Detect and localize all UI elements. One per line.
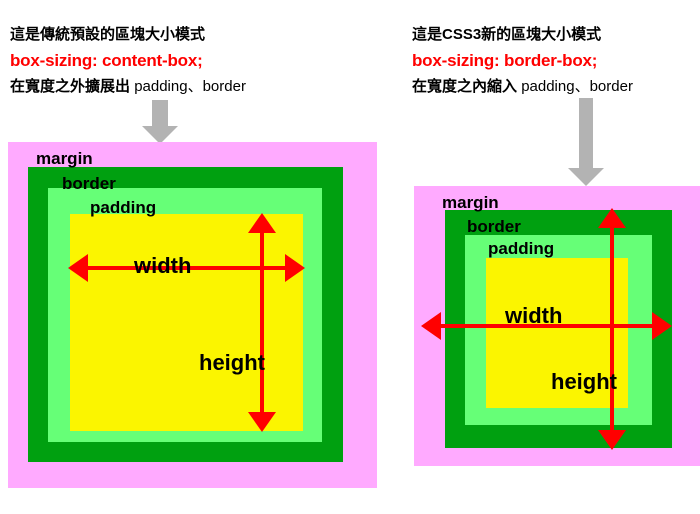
arrow-down-head xyxy=(568,168,604,186)
caption-left-line3-prefix: 在寬度之外擴展出 xyxy=(10,78,130,95)
label-margin: margin xyxy=(442,194,499,211)
label-margin: margin xyxy=(36,150,93,167)
caption-right-line1: 這是CSS3新的區塊大小模式 xyxy=(412,22,633,48)
arrow-down-icon xyxy=(142,100,178,144)
width-arrow-right-tip xyxy=(652,312,672,340)
label-border: border xyxy=(467,218,521,235)
height-arrow-line xyxy=(610,222,614,436)
caption-left-line3-code: padding、border xyxy=(134,78,246,95)
height-arrow xyxy=(248,213,276,432)
arrow-down-icon xyxy=(568,98,604,186)
label-width: width xyxy=(505,305,562,327)
caption-left-code: box-sizing: content-box; xyxy=(10,48,246,74)
arrow-down-shaft xyxy=(579,98,593,170)
label-padding: padding xyxy=(488,240,554,257)
height-arrow-line xyxy=(260,227,264,418)
caption-content-box: 這是傳統預設的區塊大小模式 box-sizing: content-box; 在… xyxy=(10,22,246,100)
caption-right-line3: 在寬度之內縮入 padding、border xyxy=(412,74,633,100)
caption-right-code: box-sizing: border-box; xyxy=(412,48,633,74)
arrow-down-shaft xyxy=(152,100,168,128)
label-padding: padding xyxy=(90,199,156,216)
label-height: height xyxy=(199,352,265,374)
label-width: width xyxy=(134,255,191,277)
height-arrow-bottom-tip xyxy=(248,412,276,432)
caption-border-box: 這是CSS3新的區塊大小模式 box-sizing: border-box; 在… xyxy=(412,22,633,100)
label-border: border xyxy=(62,175,116,192)
height-arrow xyxy=(598,208,626,450)
caption-right-line3-code: padding、border xyxy=(521,78,633,95)
height-arrow-bottom-tip xyxy=(598,430,626,450)
caption-left-line1: 這是傳統預設的區塊大小模式 xyxy=(10,22,246,48)
caption-right-line3-prefix: 在寬度之內縮入 xyxy=(412,78,517,95)
width-arrow-right-tip xyxy=(285,254,305,282)
caption-left-line3: 在寬度之外擴展出 padding、border xyxy=(10,74,246,100)
label-height: height xyxy=(551,371,617,393)
